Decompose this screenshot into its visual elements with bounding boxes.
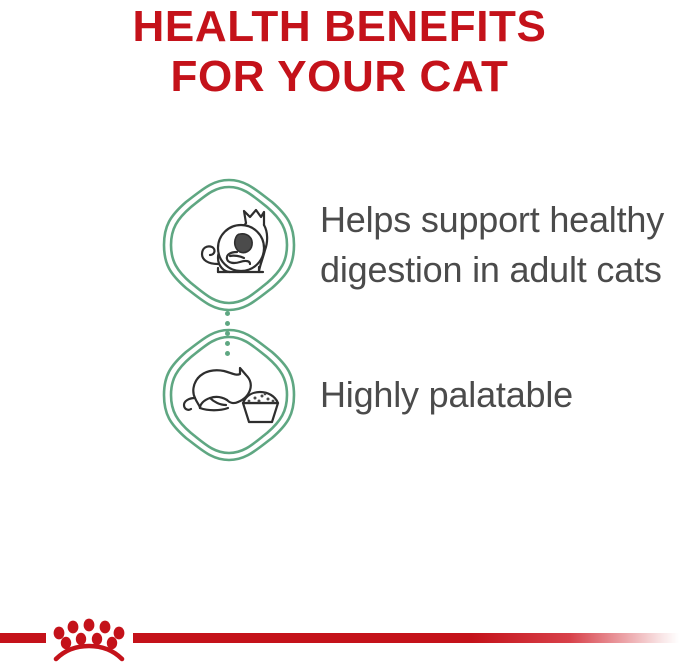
page-title-line-2: FOR YOUR CAT xyxy=(0,52,679,102)
footer-rule-left xyxy=(0,633,46,643)
connector-dot xyxy=(225,341,230,346)
dotted-connector xyxy=(224,311,230,361)
page-title: HEALTH BENEFITS FOR YOUR CAT xyxy=(0,2,679,102)
benefit-item-palatable: Highly palatable xyxy=(0,320,679,470)
royal-canin-crown-logo xyxy=(48,616,130,662)
connector-dot xyxy=(225,311,230,316)
connector-dot xyxy=(225,331,230,336)
connector-dot xyxy=(225,351,230,356)
connector-dot xyxy=(225,321,230,326)
page-title-line-1: HEALTH BENEFITS xyxy=(0,2,679,52)
footer-rule-right xyxy=(133,633,679,643)
benefit-item-digestion: Helps support healthy digestion in adult… xyxy=(0,170,679,320)
benefit-label-palatable: Highly palatable xyxy=(320,370,573,420)
benefit-label-digestion: Helps support healthy digestion in adult… xyxy=(320,195,679,295)
benefits-list: Helps support healthy digestion in adult… xyxy=(0,170,679,470)
cat-digestion-icon xyxy=(160,176,298,314)
footer xyxy=(0,600,679,666)
